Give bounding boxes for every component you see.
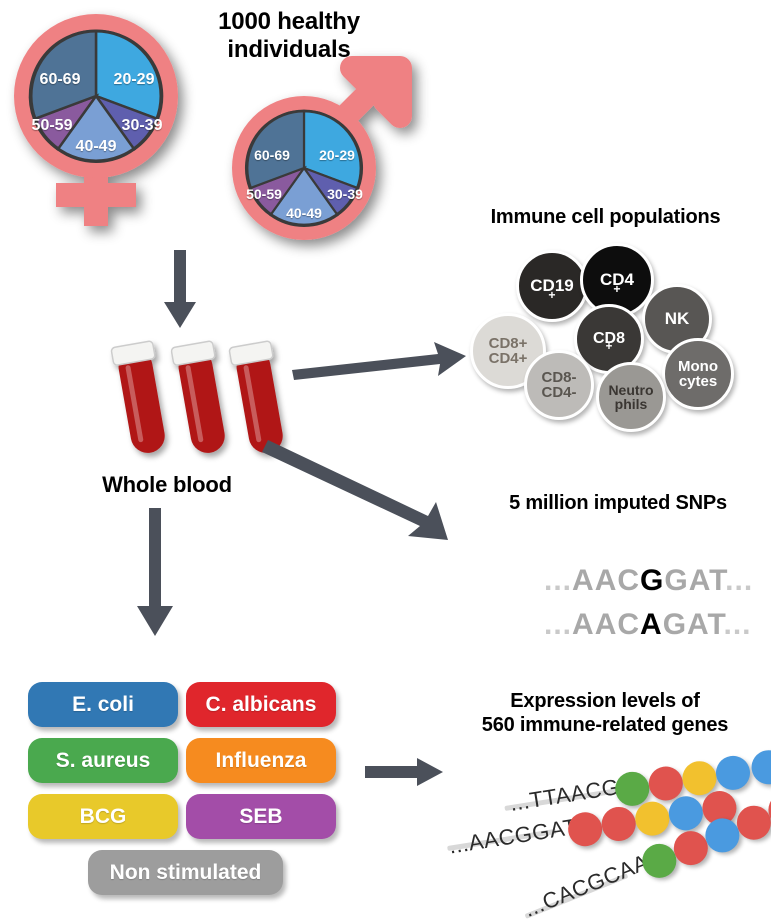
immune-cell-populations-title: Immune cell populations: [448, 206, 763, 230]
snp-sequences: ...AACGGAT... ...AACAGAT...: [488, 530, 738, 620]
stimulation-bcg[interactable]: BCG: [28, 794, 178, 839]
immune-cell-monocytes-line1: Mono: [678, 359, 718, 374]
expression-title-line2: 560 immune-related genes: [440, 714, 770, 738]
male-gender-symbol: 20-29 30-39 40-49 50-59 60-69: [202, 60, 432, 250]
cohort-title-line1: 1000 healthy: [184, 8, 394, 36]
stimulation-panel: E. coli C. albicans S. aureus Influenza …: [28, 682, 348, 892]
stimulation-non-stimulated[interactable]: Non stimulated: [88, 850, 283, 895]
stimulation-c-albicans[interactable]: C. albicans: [186, 682, 336, 727]
snp-row2-highlight: A: [640, 608, 663, 641]
immune-cell-cd8-pos-cd4-pos-line2: CD4+: [489, 351, 528, 366]
immune-cell-cd19-positive-label: CD19+: [530, 277, 573, 294]
immune-cell-neutrophils-line2: phils: [615, 397, 648, 411]
expression-title-line1: Expression levels of: [440, 690, 770, 714]
stimulation-s-aureus[interactable]: S. aureus: [28, 738, 178, 783]
immune-cell-cd8-neg-cd4-neg-line1: CD8-: [541, 370, 576, 385]
strand-2-sequence: ...AACGGAT: [447, 814, 579, 860]
stimulation-influenza[interactable]: Influenza: [186, 738, 336, 783]
figure-canvas: 1000 healthy individuals: [0, 0, 771, 922]
immune-cell-cd19-positive: CD19+: [516, 250, 588, 322]
immune-cell-cluster: CD8+ CD4+ CD19+ CD4+ NK CD8+ Mono cytes …: [468, 240, 763, 435]
strand-2-bead-2: [599, 804, 638, 843]
snp-row2-prefix: AAC: [572, 608, 640, 641]
arrow-blood-to-stimulations: [135, 508, 175, 638]
strand-1-bead-4: [714, 753, 753, 792]
immune-cell-cd8-neg-cd4-neg: CD8- CD4-: [524, 350, 594, 420]
immune-cell-monocytes: Mono cytes: [662, 338, 734, 410]
stimulation-seb[interactable]: SEB: [186, 794, 336, 839]
gene-expression-strands: ...TTAACGG ...AACGGAT ...CACGCAA: [430, 748, 771, 922]
snp-row2-suffix-ellipsis: ...: [723, 608, 751, 641]
whole-blood-label: Whole blood: [82, 472, 252, 498]
immune-cell-cd8-pos-cd4-pos-line1: CD8+: [489, 336, 528, 351]
snp-row2-prefix-ellipsis: ...: [544, 608, 572, 641]
immune-cell-cd4-positive-label: CD4+: [600, 271, 634, 288]
stimulation-e-coli[interactable]: E. coli: [28, 682, 178, 727]
immune-cell-monocytes-line2: cytes: [679, 374, 717, 389]
snp-sequence-row-2: ...AACAGAT...: [488, 574, 752, 676]
snp-row2-suffix: GAT: [663, 608, 724, 641]
strand-3-sequence: ...CACGCAA: [520, 849, 652, 922]
immune-cell-cd8-neg-cd4-neg-line2: CD4-: [541, 385, 576, 400]
arrow-blood-to-immune: [292, 330, 472, 380]
immune-cell-cd8-positive-label: CD8+: [593, 331, 625, 347]
arrow-blood-to-snps: [268, 440, 468, 550]
immune-cell-neutrophils-line1: Neutro: [608, 383, 653, 397]
immune-cell-neutrophils: Neutro phils: [596, 362, 666, 432]
immune-cell-nk-label: NK: [665, 310, 690, 327]
female-gender-symbol: 20-29 30-39 40-49 50-59 60-69: [6, 8, 206, 238]
snps-title: 5 million imputed SNPs: [478, 492, 758, 516]
strand-1-bead-5: [749, 748, 771, 787]
strand-2-bead-3: [633, 799, 672, 838]
arrow-cohort-to-blood: [160, 250, 200, 330]
expression-title: Expression levels of 560 immune-related …: [440, 690, 770, 737]
